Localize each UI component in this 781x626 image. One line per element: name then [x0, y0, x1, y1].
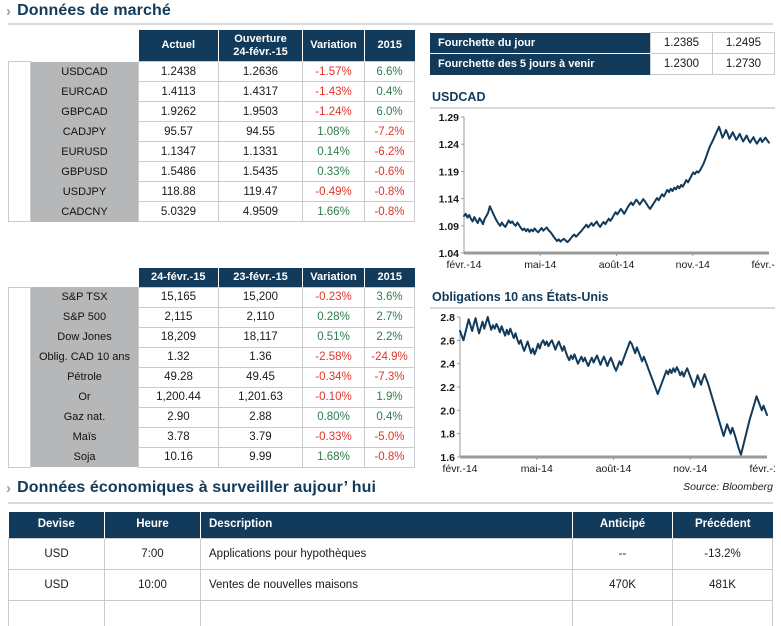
fx-ytd: 6.0% [365, 102, 415, 122]
table-row: GBPCAD1.92621.9503-1.24%6.0% [9, 102, 415, 122]
om-row-name: Or [31, 387, 139, 407]
event-precedent [673, 600, 773, 626]
us-10y-bond-chart-plot: 1.61.82.02.22.42.62.8févr.-14mai-14août-… [430, 311, 775, 483]
om-value-2: 2,110 [219, 307, 303, 327]
page-title: › Données de marché [6, 2, 171, 20]
economic-data-title: › Données économiques à surveilller aujo… [6, 479, 376, 497]
us-10y-bond-chart: Obligations 10 ans États-Unis 1.61.82.02… [430, 290, 775, 483]
om-spacer-head [9, 268, 31, 287]
fx-row-name: USDCAD [31, 62, 139, 82]
fx-actuel: 1.4113 [139, 82, 219, 102]
table-row: Autres marchésS&P TSX15,16515,200-0.23%3… [9, 287, 415, 307]
fx-col-ouverture-label: Ouverture [223, 33, 298, 46]
range-label: Fourchette des 5 jours à venir [430, 54, 651, 75]
y-axis-tick-label: 1.19 [439, 166, 460, 178]
table-row [9, 600, 773, 626]
fx-ytd: -6.2% [365, 142, 415, 162]
range-low: 1.2300 [651, 54, 713, 75]
economic-title-divider [8, 502, 773, 504]
x-axis-tick-label: mai-14 [524, 259, 556, 271]
fx-row-name: EURCAD [31, 82, 139, 102]
usdcad-chart: USDCAD 1.041.091.141.191.241.29févr.-14m… [430, 90, 775, 279]
x-axis-tick-label: févr.-14 [442, 463, 477, 475]
chevron-right-icon: › [6, 4, 11, 19]
om-value-1: 1.32 [139, 347, 219, 367]
table-row: USD7:00Applications pour hypothèques---1… [9, 538, 773, 569]
y-axis-tick-label: 1.8 [440, 429, 455, 441]
fx-variation: -1.24% [303, 102, 365, 122]
om-row-name: Soja [31, 447, 139, 467]
om-row-name: Gaz nat. [31, 407, 139, 427]
fx-side-label-text: FX [13, 134, 25, 149]
om-value-2: 15,200 [219, 287, 303, 307]
usdcad-chart-title: USDCAD [432, 90, 775, 104]
om-ytd: 1.9% [365, 387, 415, 407]
chart-series-line [464, 127, 769, 242]
range-high: 1.2495 [713, 33, 775, 54]
table-row: GBPUSD1.54861.54350.33%-0.6% [9, 162, 415, 182]
table-row: Or1,200.441,201.63-0.10%1.9% [9, 387, 415, 407]
om-table-header-row: 24-févr.-15 23-févr.-15 Variation 2015 [9, 268, 415, 287]
om-col-variation: Variation [303, 268, 365, 287]
event-devise [9, 600, 105, 626]
range-high: 1.2730 [713, 54, 775, 75]
om-value-1: 49.28 [139, 367, 219, 387]
om-row-name: S&P TSX [31, 287, 139, 307]
fx-name-head [31, 30, 139, 62]
events-col-precedent: Précédent [673, 512, 773, 538]
fx-ouverture: 1.9503 [219, 102, 303, 122]
event-heure [105, 600, 201, 626]
table-row: Pétrole49.2849.45-0.34%-7.3% [9, 367, 415, 387]
om-value-1: 18,209 [139, 327, 219, 347]
fx-col-2015: 2015 [365, 30, 415, 62]
om-ytd: 2.2% [365, 327, 415, 347]
fx-col-ouverture-date: 24-févr.-15 [223, 46, 298, 59]
events-col-anticipe: Anticipé [573, 512, 673, 538]
table-row: S&P 5002,1152,1100.28%2.7% [9, 307, 415, 327]
y-axis-tick-label: 2.4 [440, 359, 455, 371]
table-row: FXUSDCAD1.24381.2636-1.57%6.6% [9, 62, 415, 82]
table-row: Dow Jones18,20918,1170.51%2.2% [9, 327, 415, 347]
event-devise: USD [9, 569, 105, 600]
fx-ouverture: 1.1331 [219, 142, 303, 162]
fx-variation: 0.14% [303, 142, 365, 162]
x-axis-tick-label: août-14 [596, 463, 632, 475]
om-value-2: 9.99 [219, 447, 303, 467]
event-heure: 7:00 [105, 538, 201, 569]
other-markets-table: 24-févr.-15 23-févr.-15 Variation 2015 A… [8, 268, 415, 468]
x-axis-tick-label: févr.-14 [446, 259, 481, 271]
other-markets-side-label-text: Autres marchés [13, 333, 25, 420]
events-col-description: Description [201, 512, 573, 538]
fx-ouverture: 1.5435 [219, 162, 303, 182]
om-value-2: 18,117 [219, 327, 303, 347]
om-ytd: 2.7% [365, 307, 415, 327]
events-col-devise: Devise [9, 512, 105, 538]
fx-ouverture: 4.9509 [219, 202, 303, 222]
event-description [201, 600, 573, 626]
range-table: Fourchette du jour1.23851.2495Fourchette… [430, 32, 775, 75]
om-col-2015: 2015 [365, 268, 415, 287]
fx-ouverture: 119.47 [219, 182, 303, 202]
x-axis-tick-label: mai-14 [521, 463, 553, 475]
event-anticipe [573, 600, 673, 626]
om-variation: 0.51% [303, 327, 365, 347]
fx-row-name: EURUSD [31, 142, 139, 162]
fx-ouverture: 94.55 [219, 122, 303, 142]
range-low: 1.2385 [651, 33, 713, 54]
fx-col-ouverture: Ouverture 24-févr.-15 [219, 30, 303, 62]
om-ytd: -24.9% [365, 347, 415, 367]
fx-side-label: FX [9, 62, 31, 222]
om-variation: 1.68% [303, 447, 365, 467]
fx-actuel: 1.2438 [139, 62, 219, 82]
om-row-name: Oblig. CAD 10 ans [31, 347, 139, 367]
om-ytd: 3.6% [365, 287, 415, 307]
table-row: EURCAD1.41131.4317-1.43%0.4% [9, 82, 415, 102]
om-value-2: 1,201.63 [219, 387, 303, 407]
title-divider [8, 23, 773, 25]
other-markets-side-label: Autres marchés [9, 287, 31, 467]
fx-actuel: 1.9262 [139, 102, 219, 122]
chart-series-line [460, 317, 767, 455]
range-row: Fourchette des 5 jours à venir1.23001.27… [430, 54, 775, 75]
om-value-1: 1,200.44 [139, 387, 219, 407]
page-title-text: Données de marché [17, 2, 171, 20]
om-variation: -0.23% [303, 287, 365, 307]
om-variation: 0.28% [303, 307, 365, 327]
fx-table-header-row: Actuel Ouverture 24-févr.-15 Variation 2… [9, 30, 415, 62]
usdcad-chart-plot: 1.041.091.141.191.241.29févr.-14mai-14ao… [430, 111, 775, 279]
om-value-1: 2,115 [139, 307, 219, 327]
y-axis-tick-label: 1.29 [439, 112, 460, 124]
fx-ytd: -0.6% [365, 162, 415, 182]
y-axis-tick-label: 1.09 [439, 221, 460, 233]
y-axis-tick-label: 2.8 [440, 312, 455, 324]
table-row: Gaz nat.2.902.880.80%0.4% [9, 407, 415, 427]
event-precedent: -13.2% [673, 538, 773, 569]
table-row: EURUSD1.13471.13310.14%-6.2% [9, 142, 415, 162]
fx-ytd: 0.4% [365, 82, 415, 102]
om-row-name: Pétrole [31, 367, 139, 387]
om-row-name: S&P 500 [31, 307, 139, 327]
event-description: Applications pour hypothèques [201, 538, 573, 569]
y-axis-tick-label: 2.6 [440, 335, 455, 347]
us-10y-bond-chart-divider [430, 307, 775, 309]
om-value-2: 49.45 [219, 367, 303, 387]
om-value-2: 1.36 [219, 347, 303, 367]
event-precedent: 481K [673, 569, 773, 600]
table-row: Soja10.169.991.68%-0.8% [9, 447, 415, 467]
fx-row-name: USDJPY [31, 182, 139, 202]
range-row: Fourchette du jour1.23851.2495 [430, 33, 775, 54]
om-ytd: -0.8% [365, 447, 415, 467]
fx-actuel: 1.1347 [139, 142, 219, 162]
economic-events-table: Devise Heure Description Anticipé Précéd… [8, 512, 773, 626]
om-value-1: 15,165 [139, 287, 219, 307]
y-axis-tick-label: 1.14 [439, 194, 460, 206]
table-row: USD10:00Ventes de nouvelles maisons470K4… [9, 569, 773, 600]
y-axis-tick-label: 2.2 [440, 382, 455, 394]
om-variation: 0.80% [303, 407, 365, 427]
fx-variation: -0.49% [303, 182, 365, 202]
om-variation: -0.34% [303, 367, 365, 387]
event-anticipe: -- [573, 538, 673, 569]
x-axis-tick-label: nov.-14 [676, 259, 710, 271]
fx-spacer-head [9, 30, 31, 62]
y-axis-tick-label: 2.0 [440, 405, 455, 417]
om-value-1: 3.78 [139, 427, 219, 447]
om-col-date1: 24-févr.-15 [139, 268, 219, 287]
om-variation: -0.33% [303, 427, 365, 447]
x-axis-tick-label: août-14 [599, 259, 635, 271]
table-row: Maïs3.783.79-0.33%-5.0% [9, 427, 415, 447]
table-row: Oblig. CAD 10 ans1.321.36-2.58%-24.9% [9, 347, 415, 367]
om-variation: -2.58% [303, 347, 365, 367]
fx-actuel: 95.57 [139, 122, 219, 142]
fx-variation: -1.43% [303, 82, 365, 102]
table-row: CADJPY95.5794.551.08%-7.2% [9, 122, 415, 142]
table-row: CADCNY5.03294.95091.66%-0.8% [9, 202, 415, 222]
om-ytd: -7.3% [365, 367, 415, 387]
fx-ouverture: 1.4317 [219, 82, 303, 102]
fx-actuel: 1.5486 [139, 162, 219, 182]
om-ytd: -5.0% [365, 427, 415, 447]
fx-ytd: -0.8% [365, 182, 415, 202]
fx-variation: -1.57% [303, 62, 365, 82]
om-ytd: 0.4% [365, 407, 415, 427]
fx-row-name: GBPUSD [31, 162, 139, 182]
fx-ytd: -7.2% [365, 122, 415, 142]
om-name-head [31, 268, 139, 287]
fx-actuel: 118.88 [139, 182, 219, 202]
x-axis-tick-label: févr.-15 [749, 463, 775, 475]
event-devise: USD [9, 538, 105, 569]
om-row-name: Dow Jones [31, 327, 139, 347]
om-value-1: 10.16 [139, 447, 219, 467]
event-description: Ventes de nouvelles maisons [201, 569, 573, 600]
x-axis-tick-label: nov.-14 [673, 463, 707, 475]
events-header-row: Devise Heure Description Anticipé Précéd… [9, 512, 773, 538]
event-anticipe: 470K [573, 569, 673, 600]
fx-variation: 1.08% [303, 122, 365, 142]
market-data-dashboard: › Données de marché Actuel Ouverture 24-… [0, 0, 781, 626]
om-value-1: 2.90 [139, 407, 219, 427]
range-label: Fourchette du jour [430, 33, 651, 54]
fx-table: Actuel Ouverture 24-févr.-15 Variation 2… [8, 30, 415, 222]
om-row-name: Maïs [31, 427, 139, 447]
chevron-right-icon-2: › [6, 481, 11, 496]
fx-ouverture: 1.2636 [219, 62, 303, 82]
events-col-heure: Heure [105, 512, 201, 538]
x-axis-tick-label: févr.-15 [751, 259, 775, 271]
source-note: Source: Bloomberg [683, 481, 773, 493]
fx-col-actuel: Actuel [139, 30, 219, 62]
om-value-2: 2.88 [219, 407, 303, 427]
om-variation: -0.10% [303, 387, 365, 407]
economic-data-title-text: Données économiques à surveilller aujour… [17, 479, 376, 497]
fx-actuel: 5.0329 [139, 202, 219, 222]
table-row: USDJPY118.88119.47-0.49%-0.8% [9, 182, 415, 202]
fx-ytd: 6.6% [365, 62, 415, 82]
om-value-2: 3.79 [219, 427, 303, 447]
fx-variation: 0.33% [303, 162, 365, 182]
om-col-date2: 23-févr.-15 [219, 268, 303, 287]
fx-variation: 1.66% [303, 202, 365, 222]
fx-row-name: CADCNY [31, 202, 139, 222]
fx-ytd: -0.8% [365, 202, 415, 222]
fx-row-name: GBPCAD [31, 102, 139, 122]
fx-col-variation: Variation [303, 30, 365, 62]
usdcad-chart-divider [430, 107, 775, 109]
y-axis-tick-label: 1.24 [439, 139, 460, 151]
us-10y-bond-chart-title: Obligations 10 ans États-Unis [432, 290, 775, 304]
event-heure: 10:00 [105, 569, 201, 600]
fx-row-name: CADJPY [31, 122, 139, 142]
